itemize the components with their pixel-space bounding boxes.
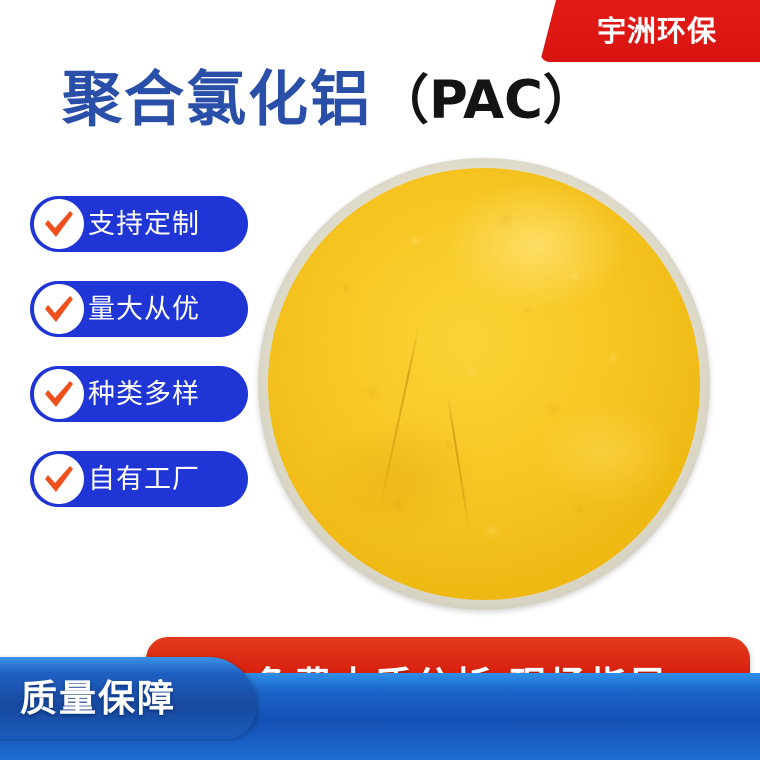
- brand-banner: 宇洲环保: [540, 0, 760, 62]
- product-image: [258, 158, 710, 610]
- brand-name: 宇洲环保: [597, 17, 717, 46]
- feature-list: 支持定制 量大从优 种类多样 自有工厂: [30, 196, 260, 536]
- guarantee-tab: 质量保障: [0, 657, 256, 739]
- powder-texture: [268, 168, 700, 600]
- guarantee-text: 质量保障: [20, 680, 176, 717]
- check-icon: [34, 284, 84, 334]
- feature-label: 量大从优: [88, 296, 200, 323]
- page-title: 聚合氯化铝 （PAC）: [62, 62, 722, 138]
- product-poster: 宇洲环保 聚合氯化铝 （PAC） 支持定制 量大从优: [0, 0, 760, 760]
- feature-badge-custom: 支持定制: [30, 196, 248, 252]
- powder-sample: [268, 168, 700, 600]
- footer-banner: 免费水质分析 现场指导 质量保障: [0, 635, 760, 760]
- check-icon: [34, 369, 84, 419]
- check-icon: [34, 454, 84, 504]
- title-english: （PAC）: [376, 74, 596, 127]
- title-chinese: 聚合氯化铝: [62, 70, 372, 130]
- feature-badge-variety: 种类多样: [30, 366, 248, 422]
- feature-label: 自有工厂: [88, 466, 200, 493]
- feature-label: 种类多样: [88, 381, 200, 408]
- feature-label: 支持定制: [88, 211, 200, 238]
- feature-badge-bulk: 量大从优: [30, 281, 248, 337]
- feature-badge-factory: 自有工厂: [30, 451, 248, 507]
- check-icon: [34, 199, 84, 249]
